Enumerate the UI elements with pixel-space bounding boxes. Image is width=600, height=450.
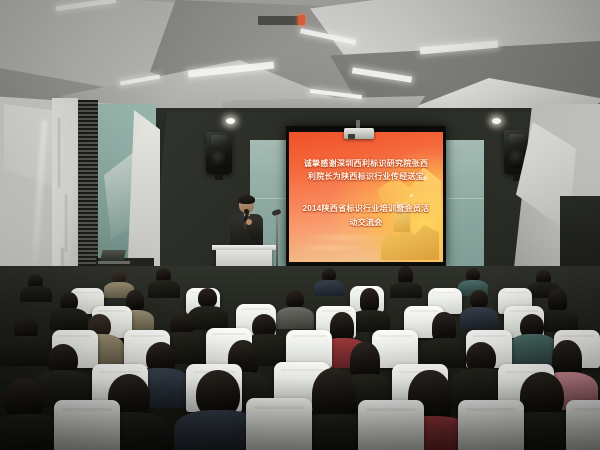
audience-shoulders [276,307,314,329]
audience-shoulders [508,334,558,366]
presenter-hair [238,195,255,204]
audience-shoulders [390,282,422,298]
vent-indicator-light [298,15,305,25]
audience-head [198,288,217,308]
presenter-hand [246,219,252,225]
microphone-head-icon [244,209,249,214]
audience-shoulders [50,308,88,330]
audience-head [548,288,567,312]
chair [54,400,120,450]
audience-head [360,288,379,312]
screen-light-streak [295,246,365,249]
projection-screen-frame: 诚挚感谢深圳西利标识研究院张西 利院长为陕西标识行业传经送宝 2014陕西省标识… [286,126,446,268]
audience-shoulders [314,280,344,296]
screen-headline-line-1: 诚挚感谢深圳西利标识研究院张西 [289,158,443,169]
projection-screen: 诚挚感谢深圳西利标识研究院张西 利院长为陕西标识行业传经送宝 2014陕西省标识… [289,132,443,262]
frosted-glass-door-right [446,140,484,272]
audience-shoulders [0,336,52,366]
projector-lens-icon [348,134,355,139]
audience-shoulders [350,310,390,332]
downlight-icon [226,118,235,124]
audience-shoulders [538,310,578,332]
chair [358,400,424,450]
chair [246,398,312,450]
audience-shoulders [460,307,498,329]
audience-shoulders [188,306,228,330]
screen-subtitle-line-1: 2014陕西省标识行业培训暨会员活 [289,203,443,214]
screen-sparkle [410,194,413,197]
screen-subtitle-line-2: 动交流会 [289,217,443,228]
audience-shoulders [148,280,180,298]
chair [458,400,524,450]
lectern-top [212,245,276,250]
screen-headline-line-2: 利院长为陕西标识行业传经送宝 [289,171,443,182]
ceiling-vent-icon [258,16,302,25]
conference-hall-photo: 诚挚感谢深圳西利标识研究院张西 利院长为陕西标识行业传经送宝 2014陕西省标识… [0,0,600,450]
downlight-icon [492,118,501,124]
laptop-base [98,261,130,264]
microphone-stand [276,214,278,270]
audience-seating-area [0,266,600,450]
screen-light-streak [299,236,391,239]
audience-shoulders [20,286,52,302]
left-wall-speaker [206,132,232,174]
chair [566,400,600,450]
